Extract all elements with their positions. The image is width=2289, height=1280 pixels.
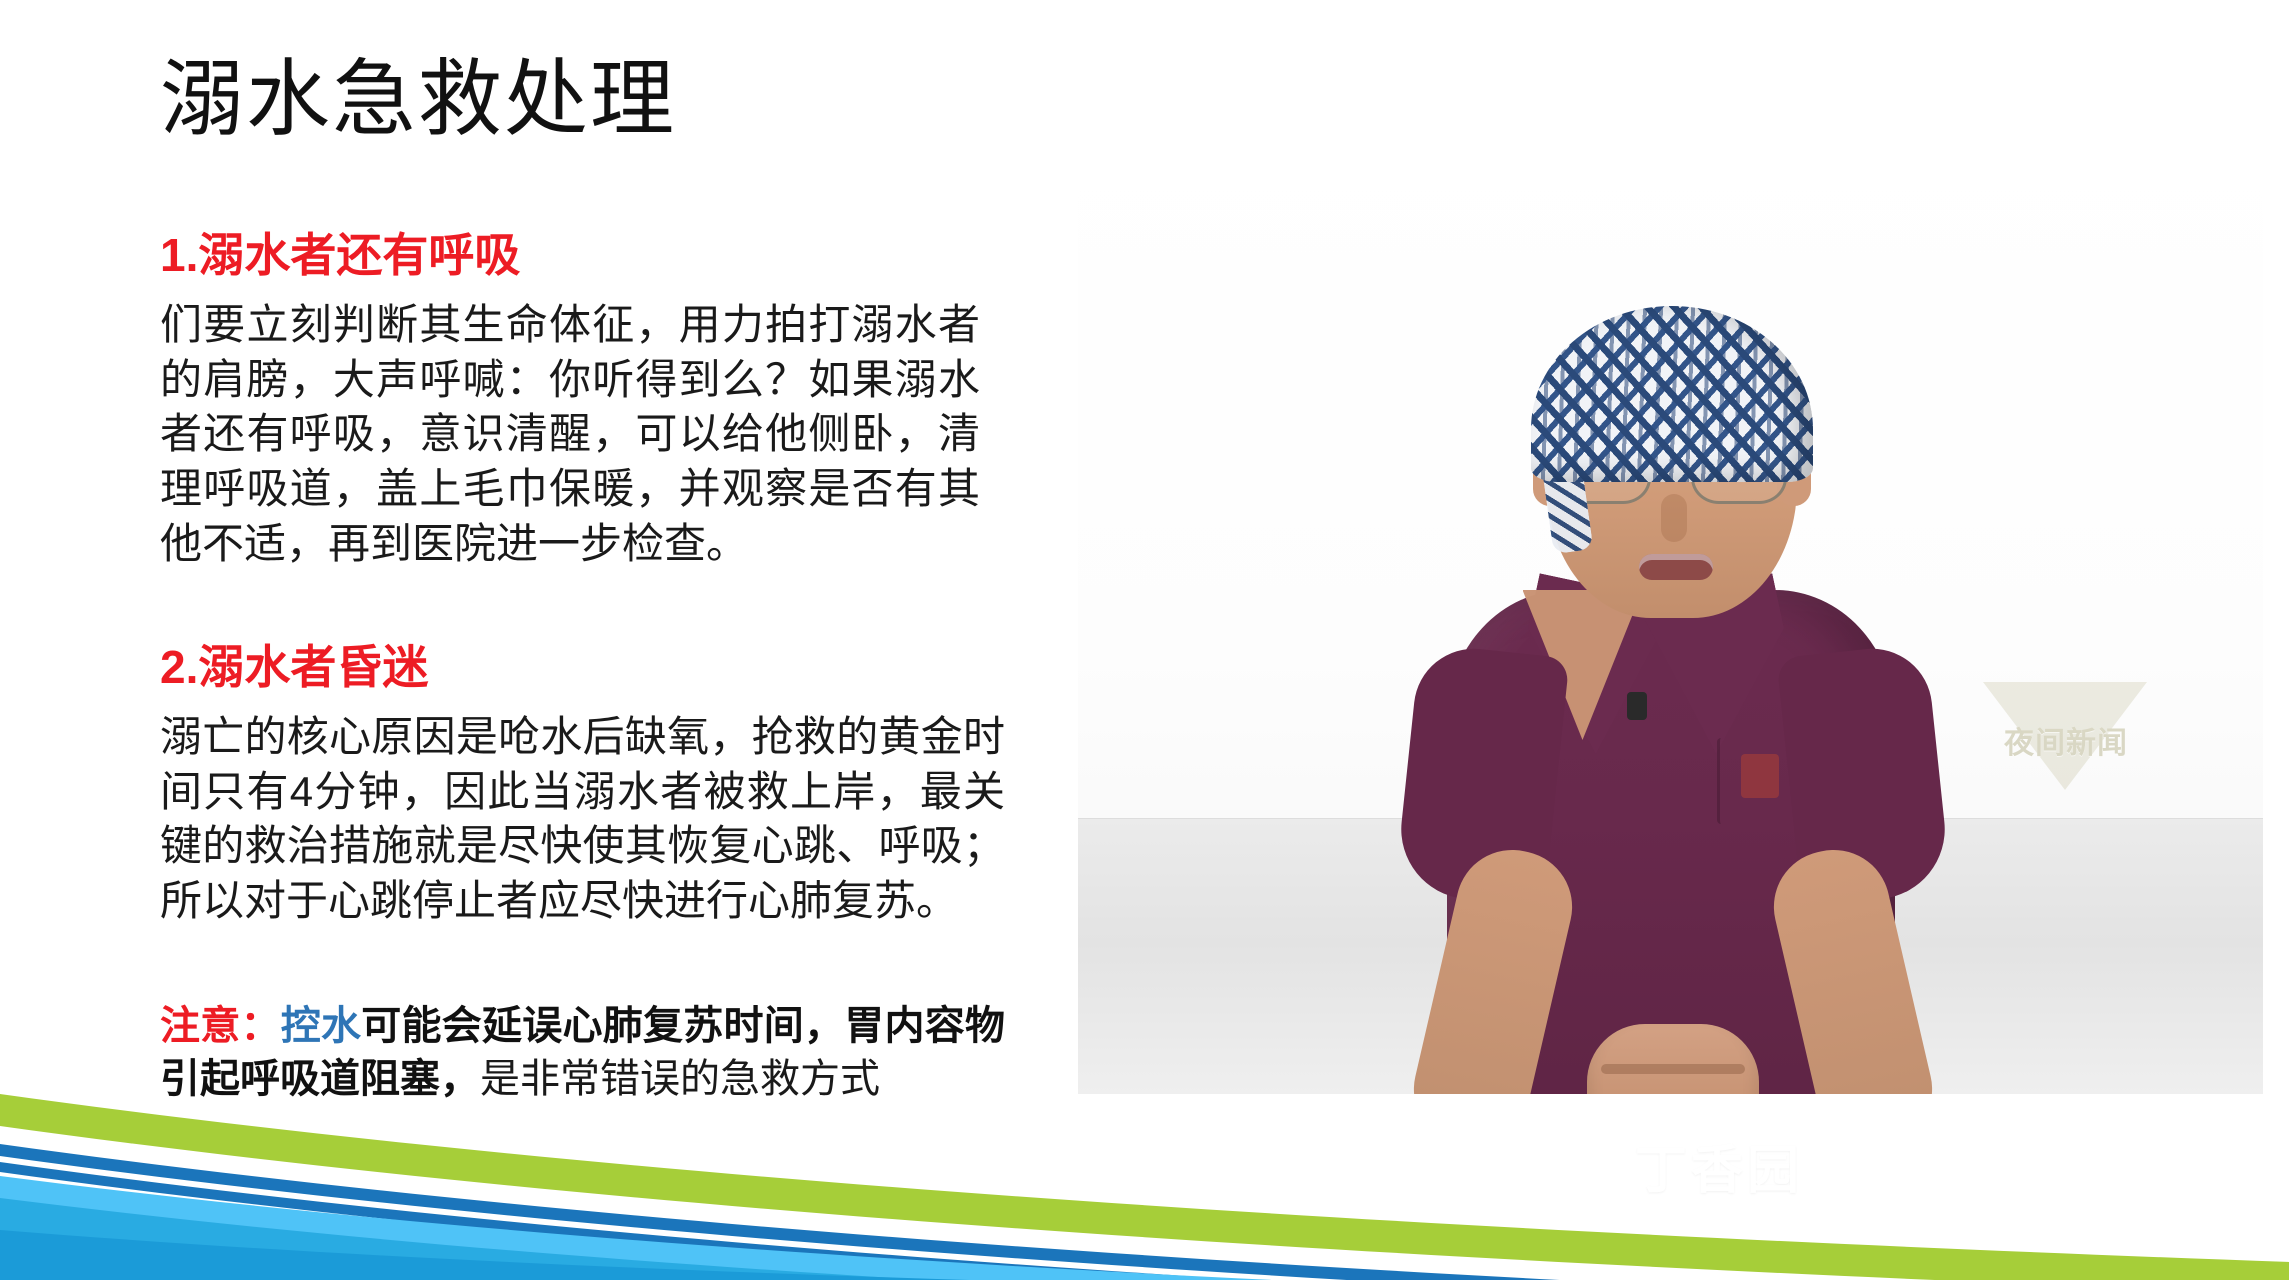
section-2-body: 溺亡的核心原因是呛水后缺氧，抢救的黄金时间只有4分钟，因此当溺水者被救上岸，最关…	[160, 710, 1005, 928]
presenter-figure	[1351, 218, 1991, 1094]
bottom-ribbon-decoration	[0, 1080, 2289, 1280]
presentation-slide: 溺水急救处理 1.溺水者还有呼吸 们要立刻判断其生命体征，用力拍打溺水者的肩膀，…	[0, 0, 2289, 1280]
tv-station-logo: 夜间新闻	[1961, 678, 2171, 796]
section-1-body: 们要立刻判断其生命体征，用力拍打溺水者的肩膀，大声呼喊：你听得到么？如果溺水者还…	[160, 298, 980, 571]
tv-logo-text: 夜间新闻	[1961, 718, 2171, 762]
presenter-nose	[1661, 494, 1687, 542]
video-panel[interactable]: 夜间新闻	[1078, 122, 2263, 1094]
note-label: 注意：	[160, 1004, 281, 1048]
scrub-pocket-badge	[1741, 754, 1779, 798]
lapel-microphone-icon	[1627, 692, 1647, 720]
surgical-cap	[1531, 306, 1813, 482]
section-1: 1.溺水者还有呼吸 们要立刻判断其生命体征，用力拍打溺水者的肩膀，大声呼喊：你听…	[160, 228, 1000, 571]
note-keyword: 控水	[281, 1004, 362, 1048]
section-1-heading: 1.溺水者还有呼吸	[160, 228, 1000, 282]
page-title: 溺水急救处理	[160, 55, 676, 143]
section-2-heading: 2.溺水者昏迷	[160, 640, 1000, 694]
presenter-mouth	[1639, 554, 1713, 580]
section-2: 2.溺水者昏迷 溺亡的核心原因是呛水后缺氧，抢救的黄金时间只有4分钟，因此当溺水…	[160, 640, 1000, 929]
